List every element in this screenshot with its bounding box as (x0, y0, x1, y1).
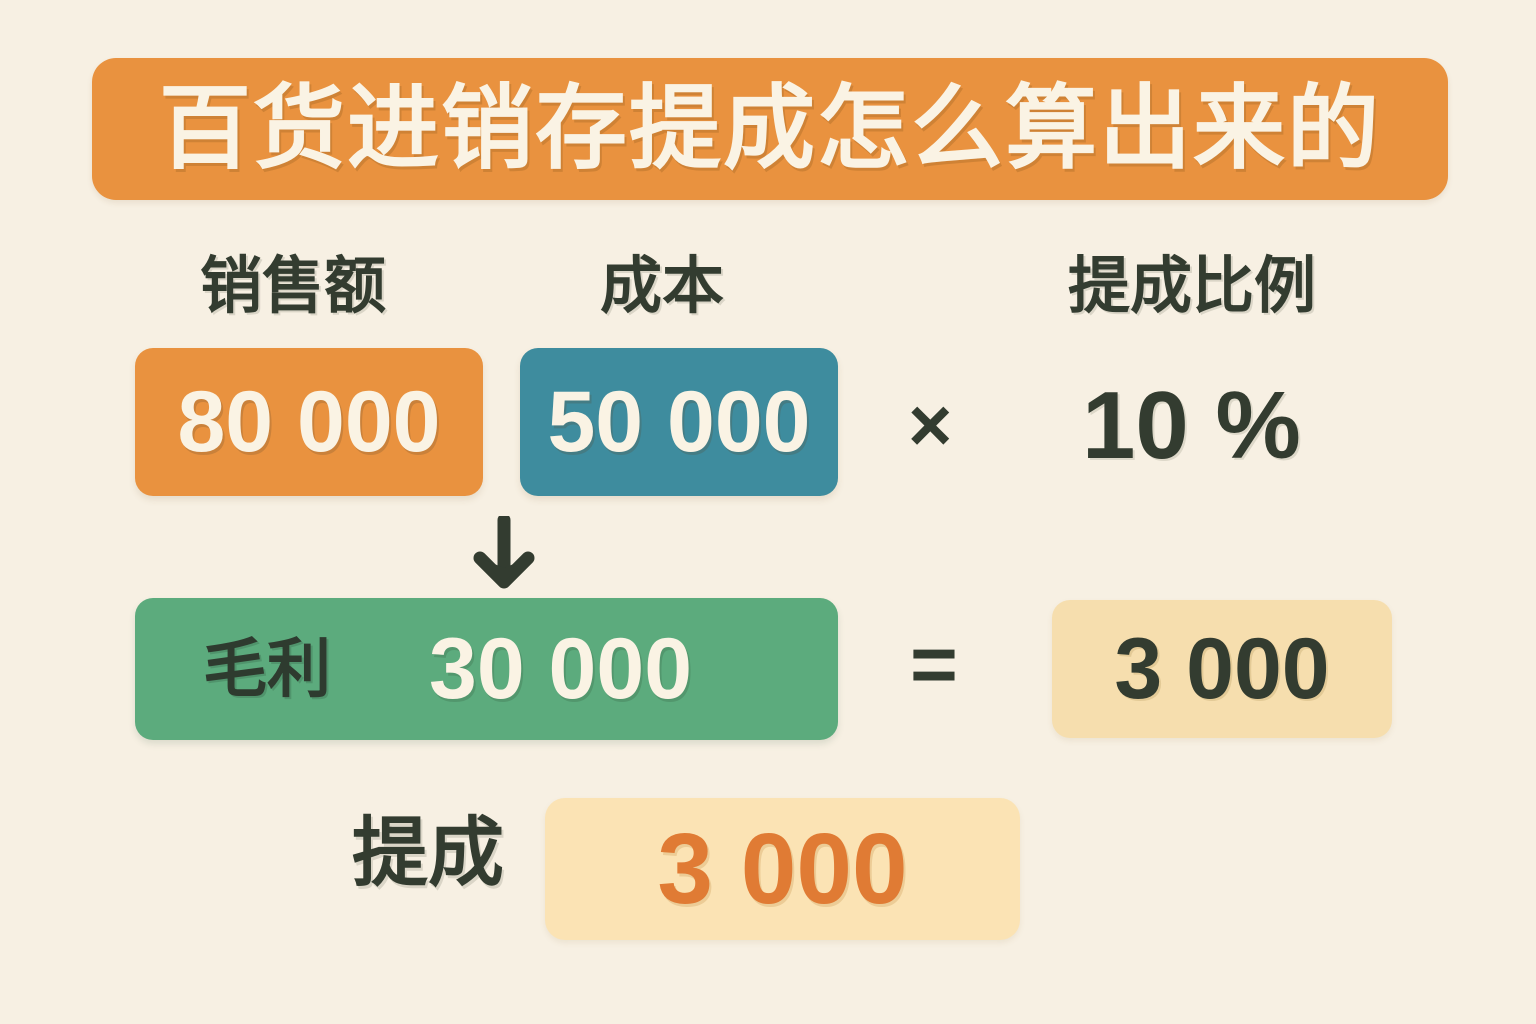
cost-value-box: 50 000 (520, 348, 838, 496)
label-commission-rate: 提成比例 (1068, 256, 1316, 318)
gross-profit-value: 30 000 (429, 626, 692, 712)
commission-result-value: 3 000 (1114, 626, 1329, 712)
gross-profit-label: 毛利 (203, 637, 331, 701)
page-title: 百货进销存提成怎么算出来的 (159, 83, 1381, 175)
summary-value-box: 3 000 (545, 798, 1020, 940)
commission-rate-value: 10 % (1082, 378, 1301, 474)
sales-value: 80 000 (177, 379, 440, 465)
cost-value: 50 000 (547, 379, 810, 465)
commission-result-box: 3 000 (1052, 600, 1392, 738)
label-sales: 销售额 (200, 256, 386, 318)
multiply-operator: × (908, 388, 952, 464)
title-banner: 百货进销存提成怎么算出来的 (92, 58, 1448, 200)
gross-profit-box: 毛利 30 000 (135, 598, 838, 740)
equals-operator: = (910, 624, 958, 706)
sales-value-box: 80 000 (135, 348, 483, 496)
summary-value: 3 000 (657, 819, 907, 919)
arrow-down-icon (468, 516, 540, 592)
summary-label: 提成 (352, 816, 504, 892)
label-cost: 成本 (600, 256, 724, 318)
infographic-canvas: 百货进销存提成怎么算出来的 销售额 成本 提成比例 80 000 50 000 … (0, 0, 1536, 1024)
